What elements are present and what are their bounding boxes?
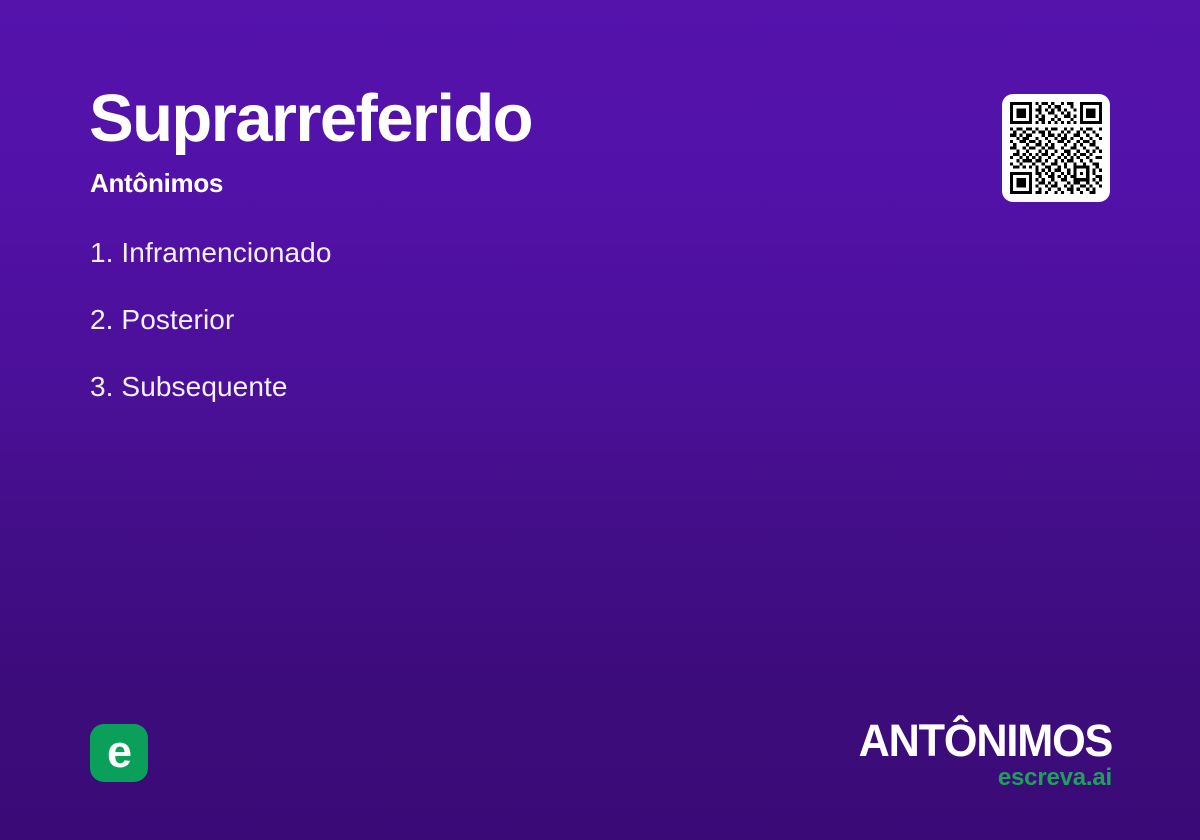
escreva-logo-badge[interactable]: e bbox=[90, 724, 148, 782]
list-item: 3. Subsequente bbox=[90, 373, 332, 401]
card-category-label: Antônimos bbox=[90, 170, 223, 196]
brand-sub: escreva.ai bbox=[848, 766, 1112, 790]
antonym-card: Suprarreferido Antônimos 1. Inframencion… bbox=[0, 0, 1200, 840]
page-title: Suprarreferido bbox=[89, 85, 532, 152]
qr-code[interactable] bbox=[1002, 94, 1110, 202]
antonym-list: 1. Inframencionado 2. Posterior 3. Subse… bbox=[90, 239, 332, 401]
list-item: 2. Posterior bbox=[90, 306, 332, 334]
brand-name: ANTÔNIMOS bbox=[858, 718, 1112, 763]
qr-code-icon bbox=[1010, 102, 1102, 194]
list-item: 1. Inframencionado bbox=[90, 239, 332, 267]
badge-letter: e bbox=[90, 724, 148, 782]
brand-lockup: ANTÔNIMOS escreva.ai bbox=[848, 718, 1112, 790]
